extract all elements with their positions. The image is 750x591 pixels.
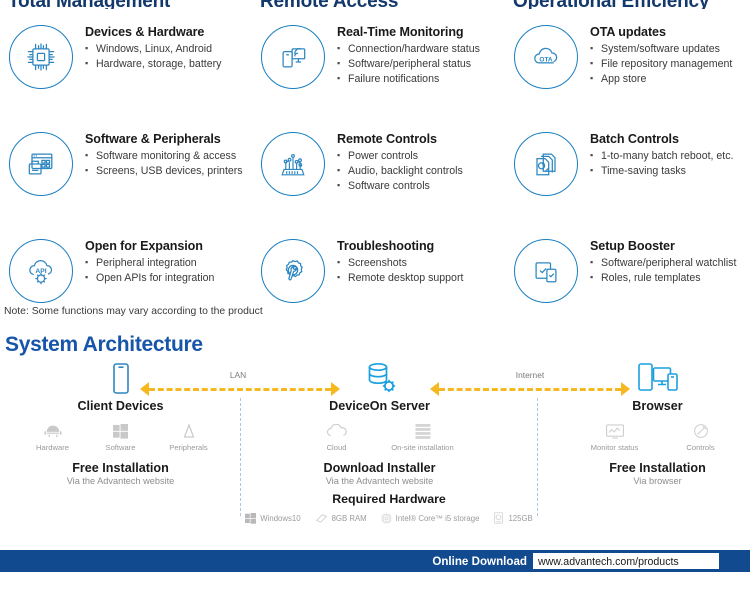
node-subicons: Hardware Software bbox=[18, 421, 223, 452]
feature-card-body: Troubleshooting Screenshots Remote deskt… bbox=[337, 233, 463, 286]
bullet: Software monitoring & access bbox=[85, 149, 243, 164]
tablet-device-icon bbox=[18, 362, 223, 396]
feature-card: Devices & Hardware Windows, Linux, Andro… bbox=[0, 19, 252, 116]
page-root: Total Management Devi bbox=[0, 0, 750, 591]
server-gear-icon bbox=[272, 362, 487, 396]
feature-card-bullets: Software monitoring & access Screens, US… bbox=[85, 149, 243, 179]
feature-card: Software & Peripherals Software monitori… bbox=[0, 126, 252, 223]
hardware-item-label: Intel® Core™ i5 storage bbox=[396, 514, 480, 523]
bullet: Windows, Linux, Android bbox=[85, 42, 221, 57]
feature-card-bullets: Software/peripheral watchlist Roles, rul… bbox=[590, 256, 736, 286]
bullet: Power controls bbox=[337, 149, 463, 164]
peripherals-icon bbox=[155, 421, 223, 441]
bullet: System/software updates bbox=[590, 42, 732, 57]
bullet: Failure notifications bbox=[337, 72, 480, 87]
feature-card-title: Batch Controls bbox=[590, 132, 734, 146]
subicon-controls: Controls bbox=[658, 421, 744, 452]
realtime-monitor-icon bbox=[261, 25, 325, 89]
hardware-item: 125GB bbox=[493, 512, 532, 524]
bullet: Roles, rule templates bbox=[590, 271, 736, 286]
feature-card: Troubleshooting Screenshots Remote deskt… bbox=[252, 233, 505, 330]
feature-card-title: Open for Expansion bbox=[85, 239, 214, 253]
feature-card-title: Remote Controls bbox=[337, 132, 463, 146]
subicon-hardware: Hardware bbox=[19, 421, 87, 452]
column-title: Total Management bbox=[8, 0, 252, 9]
subicon-label: Software bbox=[87, 443, 155, 452]
hardware-item-label: 125GB bbox=[508, 514, 532, 523]
feature-card: Setup Booster Software/peripheral watchl… bbox=[505, 233, 750, 330]
feature-card-body: Open for Expansion Peripheral integratio… bbox=[85, 233, 214, 286]
android-icon bbox=[19, 421, 87, 441]
subicon-onsite: On-site installation bbox=[380, 421, 466, 452]
hardware-item: Intel® Core™ i5 storage bbox=[381, 513, 480, 524]
feature-card-bullets: Windows, Linux, Android Hardware, storag… bbox=[85, 42, 221, 72]
gear-wrench-icon bbox=[261, 239, 325, 303]
bullet: Connection/hardware status bbox=[337, 42, 480, 57]
node-client-devices: Client Devices Hardware bbox=[18, 362, 223, 486]
bullet: Software controls bbox=[337, 179, 463, 194]
feature-card-bullets: System/software updates File repository … bbox=[590, 42, 732, 87]
feature-card-body: OTA updates System/software updates File… bbox=[590, 19, 732, 87]
required-hardware-title: Required Hardware bbox=[240, 492, 538, 506]
windows-icon bbox=[245, 513, 256, 524]
feature-card-bullets: Screenshots Remote desktop support bbox=[337, 256, 463, 286]
feature-grid: Total Management Devi bbox=[0, 0, 750, 330]
required-hardware: Required Hardware Windows10 bbox=[240, 492, 538, 524]
feature-card-title: Software & Peripherals bbox=[85, 132, 243, 146]
feature-card-body: Batch Controls 1-to-many batch reboot, e… bbox=[590, 126, 734, 179]
bullet: 1-to-many batch reboot, etc. bbox=[590, 149, 734, 164]
controls-icon bbox=[658, 421, 744, 441]
feature-card-body: Software & Peripherals Software monitori… bbox=[85, 126, 243, 179]
feature-column-remote-access: Remote Access Real-Time M bbox=[252, 0, 505, 330]
feature-column-operational-efficiency: Operational Efficiency OTA OTA updates S… bbox=[505, 0, 750, 330]
onsite-rack-icon bbox=[380, 421, 466, 441]
online-download-label: Online Download bbox=[432, 555, 527, 568]
hardware-item: Windows10 bbox=[245, 513, 300, 524]
feature-card-body: Real-Time Monitoring Connection/hardware… bbox=[337, 19, 480, 87]
hardware-item: 8GB RAM bbox=[315, 513, 367, 523]
subicon-label: Peripherals bbox=[155, 443, 223, 452]
architecture-diagram: LAN Internet Client Devices bbox=[0, 362, 750, 537]
install-title: Download Installer bbox=[272, 461, 487, 475]
install-subtitle: Via the Advantech website bbox=[272, 476, 487, 486]
bullet: Open APIs for integration bbox=[85, 271, 214, 286]
chip-icon bbox=[9, 25, 73, 89]
node-browser: Browser Monitor status bbox=[570, 362, 745, 486]
bullet: Software/peripheral status bbox=[337, 57, 480, 72]
node-subicons: Cloud On-site installation bbox=[272, 421, 487, 452]
subicon-monitor-status: Monitor status bbox=[572, 421, 658, 452]
feature-card-bullets: Connection/hardware status Software/peri… bbox=[337, 42, 480, 87]
install-subtitle: Via the Advantech website bbox=[18, 476, 223, 486]
ram-icon bbox=[315, 513, 328, 523]
feature-card-bullets: Power controls Audio, backlight controls… bbox=[337, 149, 463, 194]
node-label: Browser bbox=[570, 399, 745, 413]
feature-card-title: Real-Time Monitoring bbox=[337, 25, 480, 39]
feature-card-bullets: 1-to-many batch reboot, etc. Time-saving… bbox=[590, 149, 734, 179]
bullet: Hardware, storage, battery bbox=[85, 57, 221, 72]
svg-text:OTA: OTA bbox=[539, 57, 553, 64]
feature-card-body: Devices & Hardware Windows, Linux, Andro… bbox=[85, 19, 221, 72]
ota-cloud-icon: OTA bbox=[514, 25, 578, 89]
subicon-software: Software bbox=[87, 421, 155, 452]
batch-documents-icon bbox=[514, 132, 578, 196]
column-title: Remote Access bbox=[260, 0, 505, 9]
cloud-icon bbox=[294, 421, 380, 441]
subicon-label: On-site installation bbox=[380, 443, 466, 452]
feature-card-title: Setup Booster bbox=[590, 239, 736, 253]
feature-card-title: Devices & Hardware bbox=[85, 25, 221, 39]
bullet: Screenshots bbox=[337, 256, 463, 271]
bullet: Screens, USB devices, printers bbox=[85, 164, 243, 179]
feature-card-body: Remote Controls Power controls Audio, ba… bbox=[337, 126, 463, 194]
install-subtitle: Via browser bbox=[570, 476, 745, 486]
subicon-cloud: Cloud bbox=[294, 421, 380, 452]
feature-card: OTA OTA updates System/software updates … bbox=[505, 19, 750, 116]
monitor-status-icon bbox=[572, 421, 658, 441]
link-label-internet: Internet bbox=[490, 370, 570, 380]
column-title: Operational Efficiency bbox=[513, 0, 750, 9]
storage-icon bbox=[493, 512, 504, 524]
feature-card-bullets: Peripheral integration Open APIs for int… bbox=[85, 256, 214, 286]
bullet: Time-saving tasks bbox=[590, 164, 734, 179]
bullet: Software/peripheral watchlist bbox=[590, 256, 736, 271]
product-note: Note: Some functions may vary according … bbox=[4, 306, 263, 317]
subicon-peripherals: Peripherals bbox=[155, 421, 223, 452]
required-hardware-items: Windows10 8GB RAM bbox=[240, 512, 538, 524]
bullet: Peripheral integration bbox=[85, 256, 214, 271]
feature-column-total-management: Total Management Devi bbox=[0, 0, 252, 330]
node-deviceon-server: DeviceOn Server Cloud bbox=[272, 362, 487, 486]
browser-devices-icon bbox=[570, 362, 745, 396]
subicon-label: Controls bbox=[658, 443, 744, 452]
subicon-label: Hardware bbox=[19, 443, 87, 452]
feature-card-body: Setup Booster Software/peripheral watchl… bbox=[590, 233, 736, 286]
install-title: Free Installation bbox=[18, 461, 223, 475]
software-peripherals-icon bbox=[9, 132, 73, 196]
hardware-item-label: 8GB RAM bbox=[332, 514, 367, 523]
api-cloud-icon: API bbox=[9, 239, 73, 303]
install-title: Free Installation bbox=[570, 461, 745, 475]
hardware-item-label: Windows10 bbox=[260, 514, 300, 523]
footer-bar: Online Download www.advantech.com/produc… bbox=[0, 550, 750, 572]
subicon-label: Cloud bbox=[294, 443, 380, 452]
windows-icon bbox=[87, 421, 155, 441]
bullet: Audio, backlight controls bbox=[337, 164, 463, 179]
system-architecture-title: System Architecture bbox=[5, 333, 203, 357]
install-info: Free Installation Via the Advantech webs… bbox=[18, 461, 223, 486]
feature-card: Batch Controls 1-to-many batch reboot, e… bbox=[505, 126, 750, 223]
bullet: Remote desktop support bbox=[337, 271, 463, 286]
feature-card: Real-Time Monitoring Connection/hardware… bbox=[252, 19, 505, 116]
feature-card-title: OTA updates bbox=[590, 25, 732, 39]
bullet: App store bbox=[590, 72, 732, 87]
circuit-controls-icon bbox=[261, 132, 325, 196]
node-label: Client Devices bbox=[18, 399, 223, 413]
online-download-url[interactable]: www.advantech.com/products bbox=[533, 553, 719, 569]
setup-checklist-icon bbox=[514, 239, 578, 303]
install-info: Free Installation Via browser bbox=[570, 461, 745, 486]
bullet: File repository management bbox=[590, 57, 732, 72]
node-label: DeviceOn Server bbox=[272, 399, 487, 413]
node-subicons: Monitor status Controls bbox=[570, 421, 745, 452]
feature-card-title: Troubleshooting bbox=[337, 239, 463, 253]
cpu-icon bbox=[381, 513, 392, 524]
subicon-label: Monitor status bbox=[572, 443, 658, 452]
feature-card: Remote Controls Power controls Audio, ba… bbox=[252, 126, 505, 223]
install-info: Download Installer Via the Advantech web… bbox=[272, 461, 487, 486]
